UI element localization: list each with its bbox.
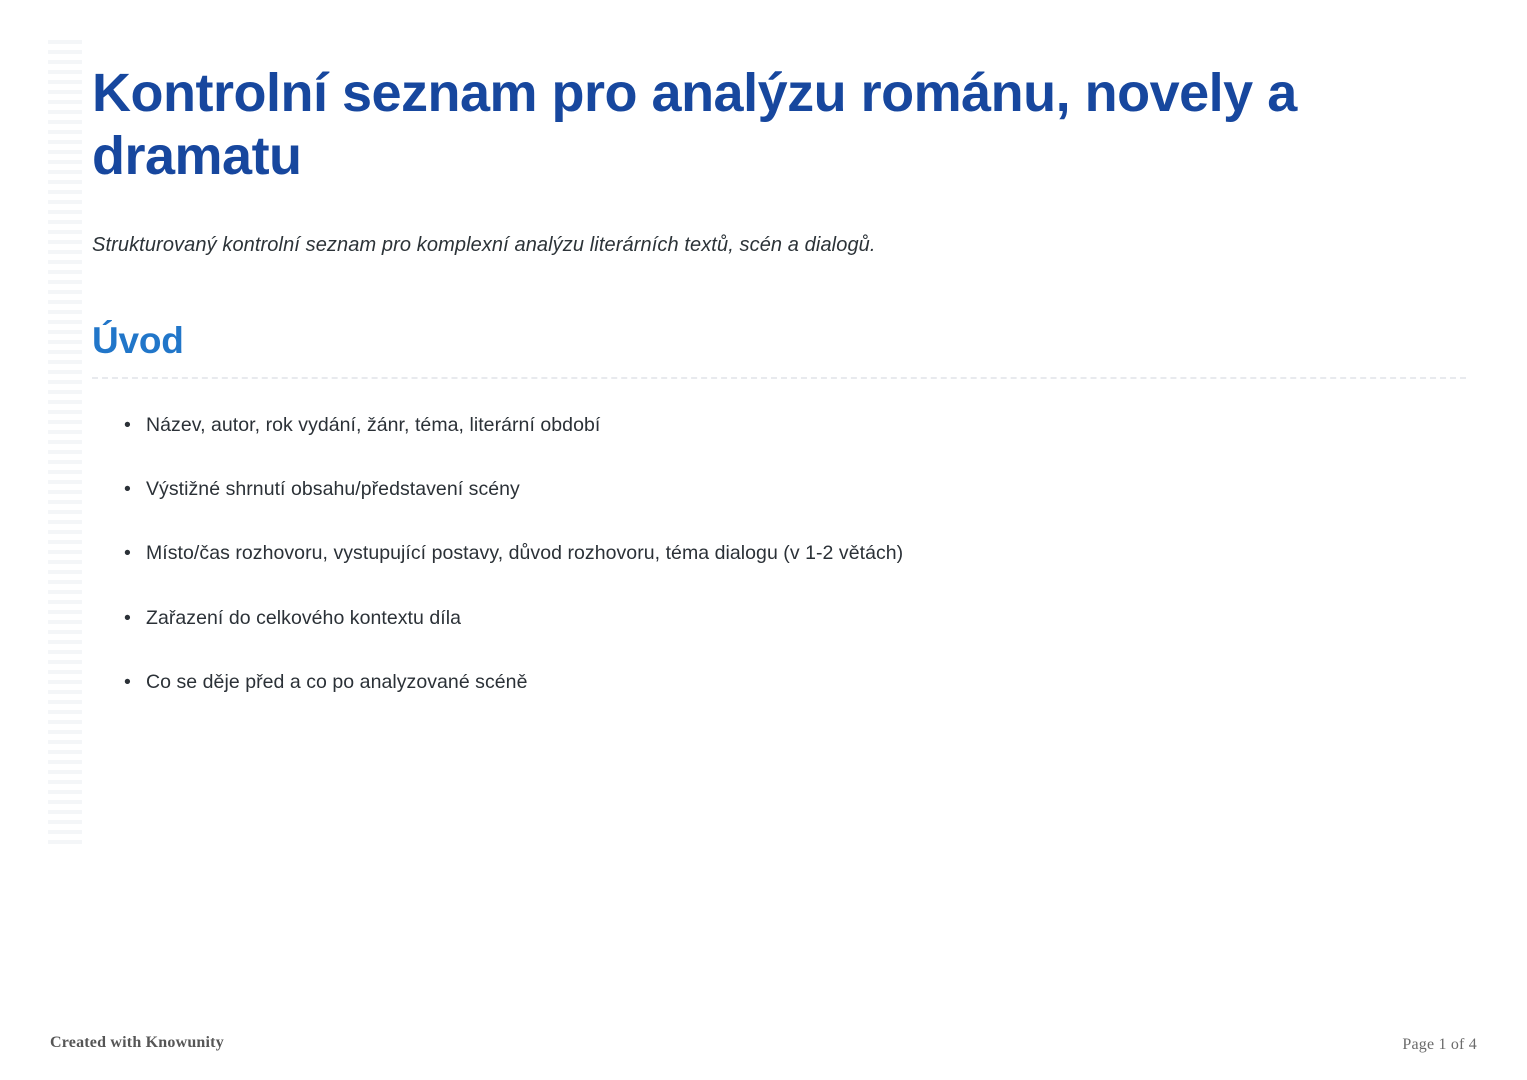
page-margin-texture bbox=[48, 40, 82, 845]
list-item-label: Zařazení do celkového kontextu díla bbox=[146, 604, 1467, 632]
list-item-label: Název, autor, rok vydání, žánr, téma, li… bbox=[146, 411, 1467, 439]
list-item-label: Místo/čas rozhovoru, vystupující postavy… bbox=[146, 539, 1467, 567]
checklist-uvod: • Název, autor, rok vydání, žánr, téma, … bbox=[92, 411, 1467, 696]
section-heading-uvod: Úvod bbox=[92, 321, 1467, 362]
bullet-point-icon: • bbox=[124, 475, 146, 503]
document-page: Kontrolní seznam pro analýzu románu, nov… bbox=[0, 0, 1527, 1080]
bullet-point-icon: • bbox=[124, 411, 146, 439]
footer-brand-label: Created with Knowunity bbox=[50, 1034, 224, 1052]
section-divider bbox=[92, 377, 1466, 379]
section-uvod: Úvod • Název, autor, rok vydání, žánr, t… bbox=[92, 321, 1467, 696]
page-subtitle: Strukturovaný kontrolní seznam pro kompl… bbox=[92, 231, 1467, 259]
bullet-point-icon: • bbox=[124, 539, 146, 567]
bullet-point-icon: • bbox=[124, 668, 146, 696]
list-item: • Zařazení do celkového kontextu díla bbox=[92, 604, 1467, 632]
list-item: • Co se děje před a co po analyzované sc… bbox=[92, 668, 1467, 696]
list-item: • Místo/čas rozhovoru, vystupující posta… bbox=[92, 539, 1467, 567]
footer-page-number: Page 1 of 4 bbox=[1402, 1036, 1477, 1054]
bullet-point-icon: • bbox=[124, 604, 146, 632]
list-item-label: Co se děje před a co po analyzované scén… bbox=[146, 668, 1467, 696]
list-item: • Název, autor, rok vydání, žánr, téma, … bbox=[92, 411, 1467, 439]
page-footer: Created with Knowunity Page 1 of 4 bbox=[0, 1020, 1527, 1080]
page-title: Kontrolní seznam pro analýzu románu, nov… bbox=[92, 62, 1392, 187]
list-item-label: Výstižné shrnutí obsahu/představení scén… bbox=[146, 475, 1467, 503]
document-content: Kontrolní seznam pro analýzu románu, nov… bbox=[92, 62, 1467, 696]
list-item: • Výstižné shrnutí obsahu/představení sc… bbox=[92, 475, 1467, 503]
